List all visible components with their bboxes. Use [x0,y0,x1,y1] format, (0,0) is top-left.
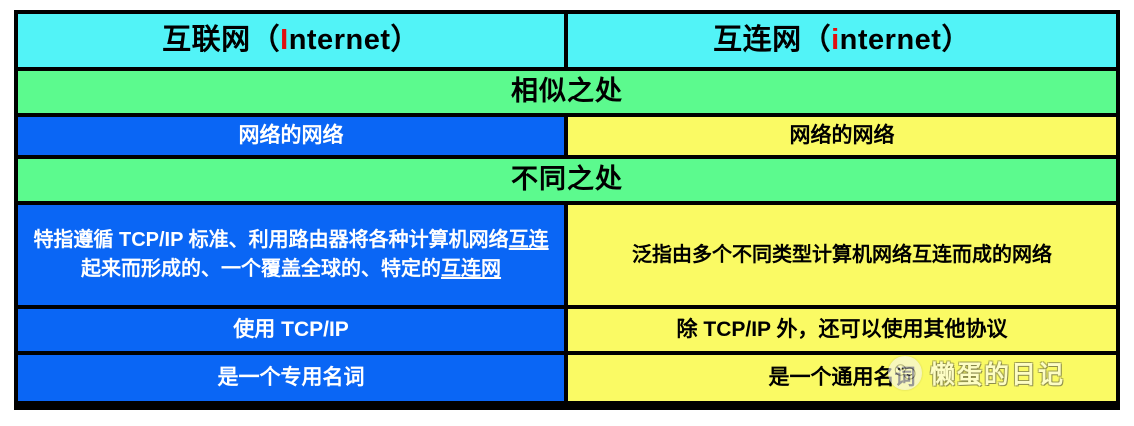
header-right-chinese: 互连网 [713,24,802,56]
header-left-accent-letter: I [280,24,289,56]
table-row: 使用 TCP/IP 除 TCP/IP 外，还可以使用其他协议 [18,309,1116,355]
cell-right-protocol: 除 TCP/IP 外，还可以使用其他协议 [568,309,1116,351]
band-cell-differences: 不同之处 [18,159,1116,201]
definition-link-1: 互连 [509,229,549,251]
table-header-row: 互联网（Internet） 互连网（internet） [18,14,1116,71]
header-right-accent-letter: i [831,24,840,56]
cell-left-definition: 特指遵循 TCP/IP 标准、利用路由器将各种计算机网络互连起来而形成的、一个覆… [18,205,568,305]
cell-text: 特指遵循 TCP/IP 标准、利用路由器将各种计算机网络互连起来而形成的、一个覆… [26,226,556,284]
header-left-paren-open: （ [251,24,281,56]
band-row-differences: 不同之处 [18,159,1116,205]
header-cell-internet-proper: 互联网（Internet） [18,14,568,67]
table-row: 是一个专用名词 是一个通用名词 [18,355,1116,401]
band-label-similarities: 相似之处 [511,76,623,107]
cell-text: 除 TCP/IP 外，还可以使用其他协议 [677,317,1008,342]
cell-right-network-of-networks: 网络的网络 [568,117,1116,155]
table-row: 网络的网络 网络的网络 [18,117,1116,159]
cell-right-definition: 泛指由多个不同类型计算机网络互连而成的网络 [568,205,1116,305]
definition-link-2: 互连网 [441,258,501,280]
comparison-table: 互联网（Internet） 互连网（internet） 相似之处 网络的网络 网… [14,10,1120,410]
header-left-chinese: 互联网 [162,24,251,56]
table-row: 特指遵循 TCP/IP 标准、利用路由器将各种计算机网络互连起来而形成的、一个覆… [18,205,1116,309]
definition-part-1: 特指遵循 TCP/IP 标准、利用路由器将各种计算机网络 [33,229,508,251]
cell-text: 是一个专用名词 [218,365,365,390]
header-right-rest: nternet [840,24,942,56]
cell-left-network-of-networks: 网络的网络 [18,117,568,155]
header-right-paren-open: （ [802,24,832,56]
cell-text: 网络的网络 [239,123,344,148]
band-row-similarities: 相似之处 [18,71,1116,117]
cell-left-noun-type: 是一个专用名词 [18,355,568,401]
header-cell-internet-generic: 互连网（internet） [568,14,1116,67]
header-right-paren-close: ） [941,24,971,56]
cell-text: 网络的网络 [790,123,895,148]
cell-text: 使用 TCP/IP [233,317,349,342]
cell-text: 泛指由多个不同类型计算机网络互连而成的网络 [576,241,1108,270]
band-label-differences: 不同之处 [511,164,623,195]
cell-left-protocol: 使用 TCP/IP [18,309,568,351]
definition-part-2: 起来而形成的、一个覆盖全球的、特定的 [81,258,441,280]
cell-text: 是一个通用名词 [769,365,916,390]
band-cell-similarities: 相似之处 [18,71,1116,113]
cell-right-noun-type: 是一个通用名词 [568,355,1116,401]
header-left-rest: nternet [289,24,391,56]
header-left-paren-close: ） [390,24,420,56]
